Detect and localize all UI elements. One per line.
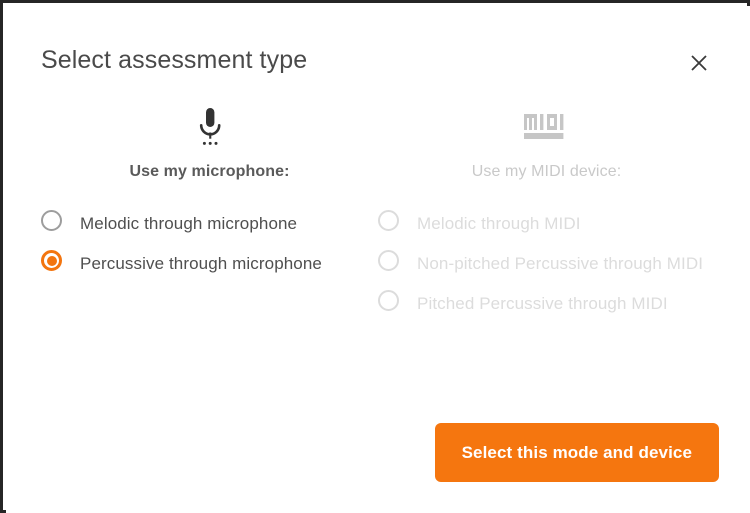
microphone-icon-wrap (41, 101, 378, 153)
select-mode-and-device-button[interactable]: Select this mode and device (435, 423, 719, 482)
option-nonpitched-percussive-midi: Non-pitched Percussive through MIDI (378, 247, 715, 281)
option-label-melodic-microphone: Melodic through microphone (80, 214, 297, 233)
assessment-type-dialog: Select assessment type (6, 6, 750, 513)
microphone-icon (195, 106, 225, 148)
option-melodic-microphone[interactable]: Melodic through microphone (41, 207, 378, 241)
options-microphone: Melodic through microphone Percussive th… (41, 207, 378, 281)
dialog-footer: Select this mode and device (6, 423, 750, 483)
option-label-percussive-microphone: Percussive through microphone (80, 254, 322, 273)
radio-nonpitched-percussive-midi (378, 250, 399, 271)
option-label-nonpitched-percussive-midi: Non-pitched Percussive through MIDI (417, 254, 703, 273)
option-percussive-microphone[interactable]: Percussive through microphone (41, 247, 378, 281)
column-microphone: Use my microphone: Melodic through micro… (41, 101, 378, 287)
option-label-melodic-midi: Melodic through MIDI (417, 214, 581, 233)
midi-logo-icon (523, 113, 571, 141)
option-melodic-midi: Melodic through MIDI (378, 207, 715, 241)
column-midi: Use my MIDI device: Melodic through MIDI… (378, 101, 715, 327)
midi-icon-wrap (378, 101, 715, 153)
column-label-midi: Use my MIDI device: (378, 163, 715, 181)
radio-melodic-microphone[interactable] (41, 210, 62, 231)
column-label-microphone: Use my microphone: (41, 163, 378, 181)
dialog-header: Select assessment type (6, 6, 750, 94)
radio-melodic-midi (378, 210, 399, 231)
assessment-columns: Use my microphone: Melodic through micro… (6, 101, 750, 391)
close-icon (690, 54, 708, 72)
radio-pitched-percussive-midi (378, 290, 399, 311)
radio-percussive-microphone[interactable] (41, 250, 62, 271)
page-title: Select assessment type (41, 46, 307, 75)
close-button[interactable] (679, 43, 719, 83)
option-pitched-percussive-midi: Pitched Percussive through MIDI (378, 287, 715, 321)
options-midi: Melodic through MIDI Non-pitched Percuss… (378, 207, 715, 321)
window-frame: Select assessment type (0, 0, 750, 513)
option-label-pitched-percussive-midi: Pitched Percussive through MIDI (417, 294, 668, 313)
